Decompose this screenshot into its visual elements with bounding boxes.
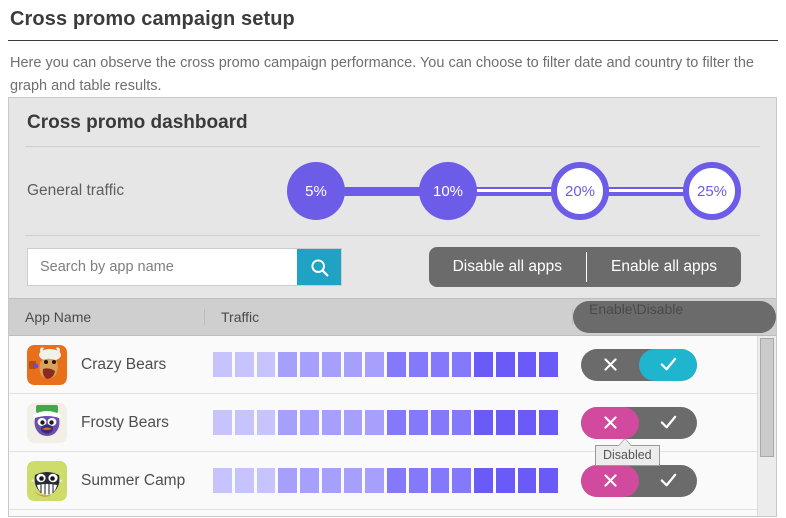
traffic-segment <box>387 410 406 435</box>
cell-app-name: Summer Camp <box>9 461 205 501</box>
traffic-segment <box>344 468 363 493</box>
disable-button[interactable] <box>581 465 639 497</box>
traffic-segment <box>213 352 232 377</box>
traffic-segment <box>235 468 254 493</box>
cell-enable-disable <box>573 349 776 381</box>
traffic-segment <box>300 352 319 377</box>
page-description: Here you can observe the cross promo cam… <box>0 41 780 98</box>
traffic-segment <box>431 468 450 493</box>
cell-traffic <box>205 352 573 377</box>
search-icon <box>309 257 330 278</box>
column-header-enable-disable: Enable\Disable <box>573 301 776 333</box>
cell-app-name: Frosty Bears <box>9 403 205 443</box>
traffic-segment <box>431 352 450 377</box>
close-icon <box>602 356 619 373</box>
traffic-segment <box>539 468 558 493</box>
traffic-segment <box>235 410 254 435</box>
disable-all-apps-button[interactable]: Disable all apps <box>429 247 586 287</box>
stepper-connector-3 <box>605 187 687 196</box>
disabled-tooltip: Disabled <box>595 445 660 466</box>
traffic-segment <box>322 410 341 435</box>
traffic-step-5-label: 5% <box>305 183 327 200</box>
app-name-label: Summer Camp <box>81 472 185 490</box>
traffic-segment <box>496 468 515 493</box>
enable-disable-toggle[interactable] <box>581 465 697 497</box>
close-icon <box>602 414 619 431</box>
enable-disable-toggle[interactable] <box>581 349 697 381</box>
traffic-segment <box>257 410 276 435</box>
traffic-segment <box>344 352 363 377</box>
traffic-segment <box>278 468 297 493</box>
traffic-segment <box>213 468 232 493</box>
traffic-segment <box>409 352 428 377</box>
traffic-segment <box>496 352 515 377</box>
app-name-label: Frosty Bears <box>81 414 169 432</box>
stepper-connector-2 <box>473 187 555 196</box>
traffic-step-20[interactable]: 20% <box>551 162 609 220</box>
traffic-segment <box>539 410 558 435</box>
traffic-segment <box>235 352 254 377</box>
traffic-segment <box>365 410 384 435</box>
traffic-segment <box>452 468 471 493</box>
traffic-segment <box>518 410 537 435</box>
app-name-label: Crazy Bears <box>81 356 166 374</box>
cell-traffic <box>205 468 573 493</box>
traffic-stepper[interactable]: 5% 10% 20% 25% <box>287 162 758 220</box>
search-input[interactable] <box>28 249 297 285</box>
traffic-segment <box>409 410 428 435</box>
traffic-segment <box>452 410 471 435</box>
cell-traffic <box>205 410 573 435</box>
frosty-bears-icon <box>27 403 67 443</box>
crazy-bears-icon <box>27 345 67 385</box>
traffic-segment <box>518 468 537 493</box>
enable-all-apps-button[interactable]: Enable all apps <box>587 247 741 287</box>
search-box[interactable] <box>27 248 342 286</box>
table-body: Crazy Bears <box>9 336 776 517</box>
bulk-action-group: Disable all apps Enable all apps <box>429 247 741 287</box>
check-icon <box>659 471 678 490</box>
traffic-step-10[interactable]: 10% <box>419 162 477 220</box>
stepper-connector-1 <box>341 187 423 196</box>
traffic-segment <box>518 352 537 377</box>
table-header: App Name Traffic Enable\Disable <box>9 298 776 336</box>
traffic-segment <box>474 410 493 435</box>
table-scrollbar[interactable] <box>757 336 776 517</box>
summer-camp-icon <box>27 461 67 501</box>
traffic-segment <box>474 352 493 377</box>
traffic-segment <box>322 468 341 493</box>
column-header-traffic: Traffic <box>205 309 573 325</box>
table-row: Frosty Bears <box>9 394 776 452</box>
cell-enable-disable: Disabled <box>573 407 776 439</box>
traffic-segment <box>278 352 297 377</box>
enable-button[interactable] <box>639 349 697 381</box>
column-header-app-name: App Name <box>9 309 205 325</box>
cell-app-name: Crazy Bears <box>9 345 205 385</box>
general-traffic-row: General traffic 5% 10% 20% 25% <box>9 147 776 235</box>
traffic-step-25[interactable]: 25% <box>683 162 741 220</box>
enable-disable-toggle[interactable] <box>581 407 697 439</box>
traffic-segment <box>409 468 428 493</box>
enable-button[interactable] <box>639 465 697 497</box>
table-row: Summer Camp <box>9 452 776 510</box>
traffic-segment <box>496 410 515 435</box>
traffic-segment <box>257 468 276 493</box>
traffic-bar <box>213 468 558 493</box>
traffic-step-10-label: 10% <box>433 183 463 200</box>
traffic-bar <box>213 410 558 435</box>
general-traffic-label: General traffic <box>27 182 124 200</box>
traffic-segment <box>300 410 319 435</box>
enable-button[interactable] <box>639 407 697 439</box>
traffic-segment <box>365 468 384 493</box>
traffic-segment <box>387 352 406 377</box>
card-title: Cross promo dashboard <box>9 98 776 146</box>
traffic-segment <box>344 410 363 435</box>
cell-enable-disable <box>573 465 776 497</box>
scrollbar-thumb[interactable] <box>760 338 774 457</box>
table-row: Crazy Bears <box>9 336 776 394</box>
controls-row: Disable all apps Enable all apps <box>9 236 776 298</box>
disable-button[interactable] <box>581 407 639 439</box>
traffic-bar <box>213 352 558 377</box>
traffic-segment <box>278 410 297 435</box>
close-icon <box>602 472 619 489</box>
traffic-segment <box>257 352 276 377</box>
traffic-segment <box>431 410 450 435</box>
traffic-segment <box>539 352 558 377</box>
traffic-step-20-label: 20% <box>565 183 595 200</box>
traffic-step-5[interactable]: 5% <box>287 162 345 220</box>
traffic-segment <box>474 468 493 493</box>
traffic-segment <box>322 352 341 377</box>
traffic-segment <box>452 352 471 377</box>
check-icon <box>659 413 678 432</box>
disable-button[interactable] <box>581 349 639 381</box>
page-title: Cross promo campaign setup <box>0 0 786 40</box>
check-icon <box>659 355 678 374</box>
traffic-segment <box>213 410 232 435</box>
traffic-segment <box>387 468 406 493</box>
traffic-segment <box>300 468 319 493</box>
dashboard-card: Cross promo dashboard General traffic 5%… <box>8 97 777 517</box>
traffic-segment <box>365 352 384 377</box>
traffic-step-25-label: 25% <box>697 183 727 200</box>
search-button[interactable] <box>297 249 341 285</box>
